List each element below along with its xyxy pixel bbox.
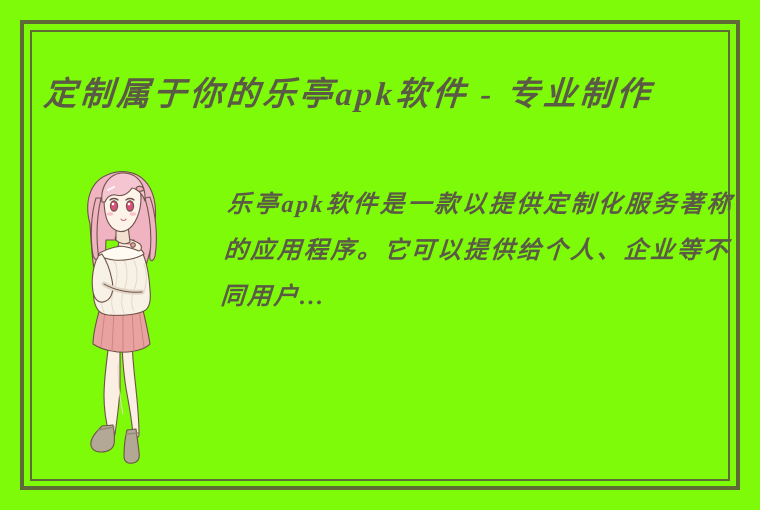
eye-left-highlight (112, 203, 115, 206)
eye-right-highlight (128, 203, 131, 206)
blush-left (107, 212, 114, 216)
blush-right (130, 212, 137, 216)
boot-right-cuff (126, 433, 138, 434)
body-description: 乐亭apk软件是一款以提供定制化服务著称的应用程序。它可以提供给个人、企业等不同… (219, 182, 735, 320)
poster-canvas: 定制属于你的乐亭apk软件 - 专业制作 乐亭apk软件是一款以提供定制化服务著… (0, 0, 760, 510)
anime-girl-illustration (60, 168, 180, 473)
eye-left (110, 201, 117, 211)
hair-ribbon-right (136, 186, 144, 191)
page-title: 定制属于你的乐亭apk软件 - 专业制作 (42, 60, 718, 122)
eye-right (126, 201, 133, 211)
anime-girl-svg (60, 168, 180, 473)
necklace-pendant (131, 243, 136, 248)
